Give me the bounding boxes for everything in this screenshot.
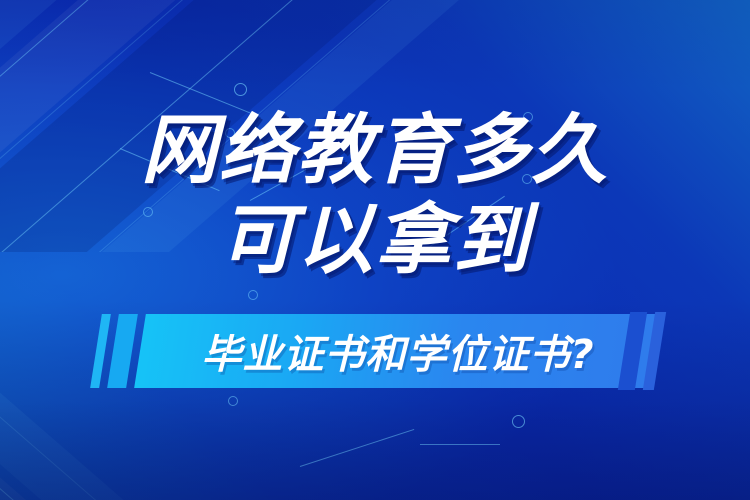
circuit-node-circle <box>225 128 235 138</box>
circuit-node-circle <box>508 212 518 222</box>
circuit-node-circle <box>143 207 153 217</box>
subtitle-banner: 毕业证书和学位证书? <box>96 314 656 388</box>
circuit-node-circle <box>248 290 258 300</box>
poster-canvas: 网络教育多久 可以拿到 毕业证书和学位证书? <box>0 0 750 500</box>
banner-accent-slash-thick <box>107 314 138 388</box>
banner-text: 毕业证书和学位证书? <box>140 314 656 388</box>
circuit-node-circle <box>234 83 247 96</box>
circuit-node-circle <box>228 396 238 406</box>
circuit-node-circle <box>523 112 533 122</box>
circuit-node-circle <box>512 415 525 428</box>
circuit-node-circle <box>522 174 532 184</box>
circuit-trace <box>420 444 500 445</box>
background-bottom-shade <box>0 0 750 500</box>
